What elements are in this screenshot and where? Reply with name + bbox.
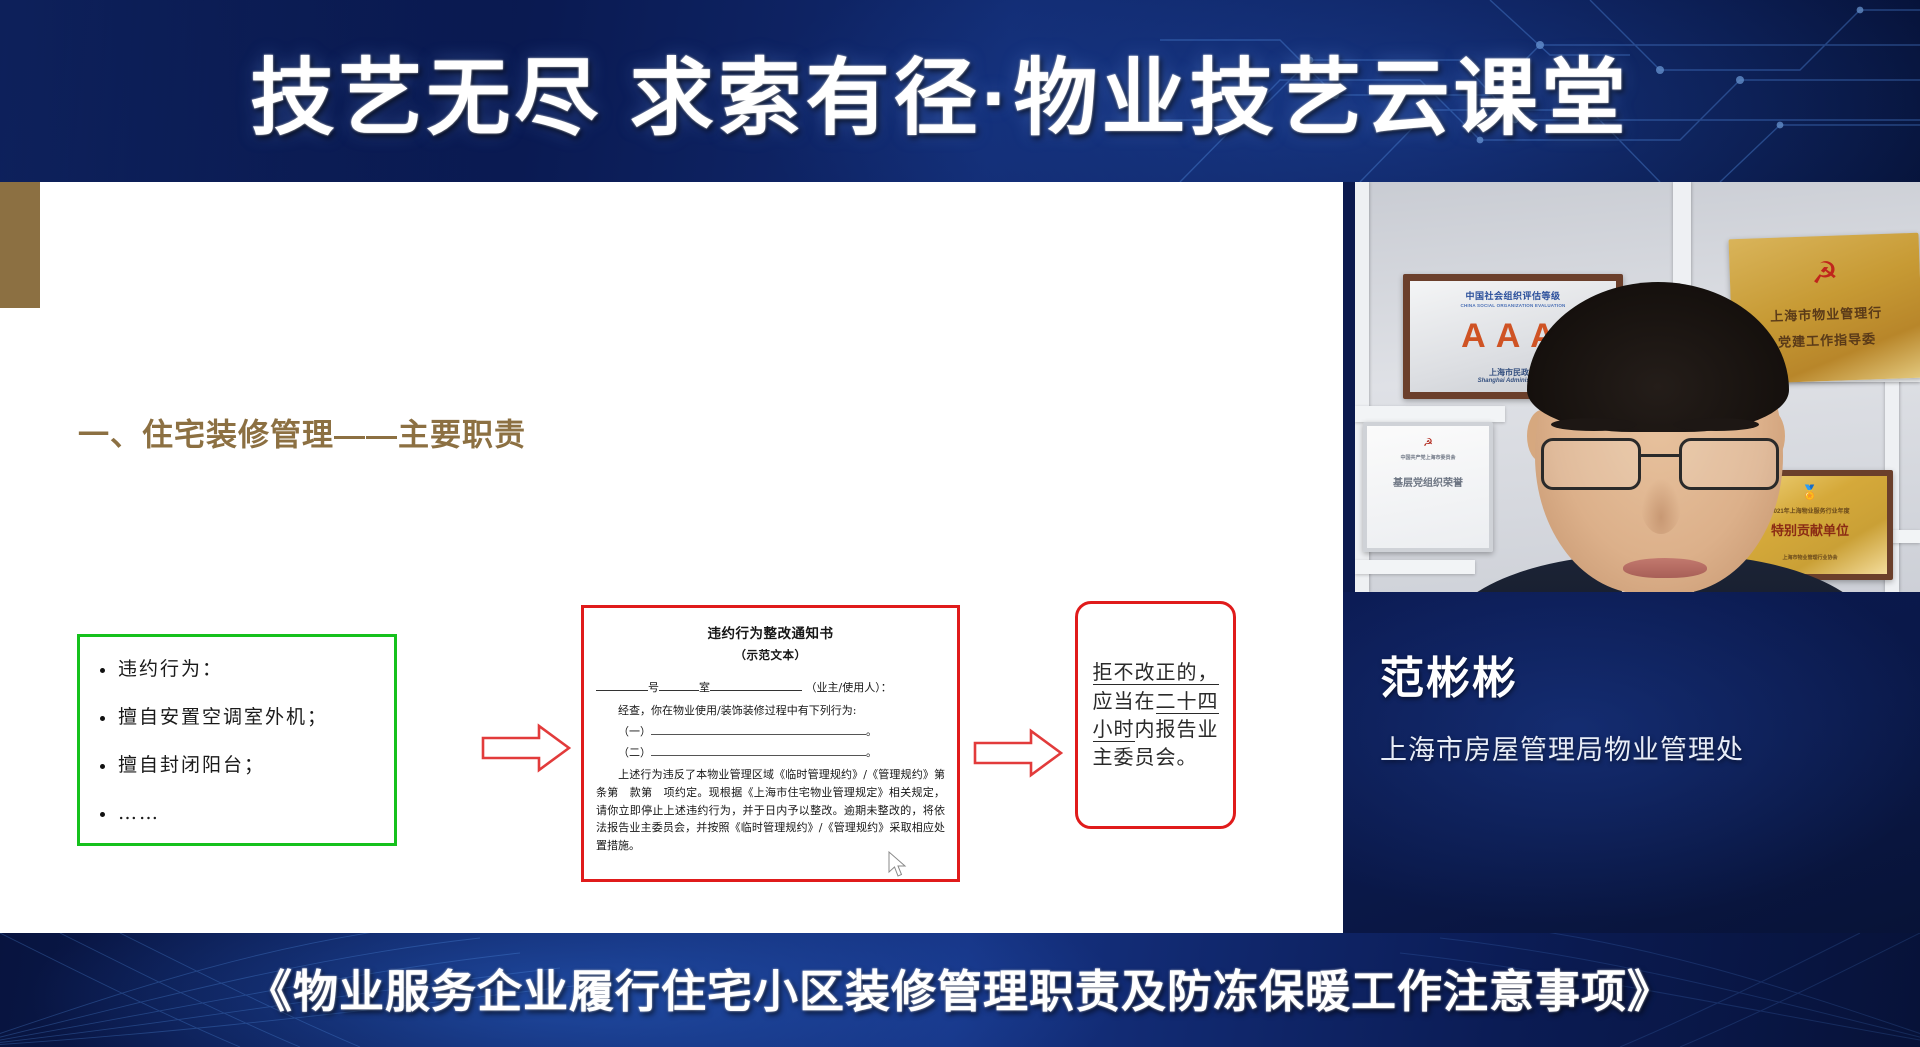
- notice-subtitle: （示范文本）: [596, 647, 945, 663]
- notice-address-suffix: （业主/使用人）：: [806, 681, 892, 694]
- notice-document-box: 违约行为整改通知书 （示范文本） 号室 （业主/使用人）： 经查，你在物业使用/…: [581, 605, 960, 882]
- flow-arrow-1: [481, 722, 571, 774]
- bullet-dot: [100, 812, 105, 817]
- list-item-label: ……: [118, 803, 160, 824]
- person-brow-right: [1673, 418, 1759, 431]
- shelf-board: [1355, 406, 1505, 422]
- list-item-label: 擅自封闭阳台；: [118, 755, 265, 776]
- webcam-left-border: [1343, 182, 1355, 592]
- notice-title: 违约行为整改通知书: [596, 622, 945, 642]
- header-title: 技艺无尽 求索有径·物业技艺云课堂: [0, 0, 1920, 182]
- footer-title: 《物业服务企业履行住宅小区装修管理职责及防冻保暖工作注意事项》: [0, 933, 1920, 1047]
- slide-heading: 一、住宅装修管理——主要职责: [78, 410, 526, 455]
- bullet-dot: [100, 764, 105, 769]
- footer-banner: 《物业服务企业履行住宅小区装修管理职责及防冻保暖工作注意事项》: [0, 933, 1920, 1047]
- list-item: ……: [94, 803, 378, 824]
- list-item-label: 违约行为：: [118, 659, 223, 680]
- conclusion-line-2: 应当在二十四: [1093, 687, 1219, 715]
- conclusion-text: 拒不改正的， 应当在二十四 小时内报告业 主委员会。: [1083, 658, 1229, 772]
- glasses-lens-right: [1679, 438, 1779, 490]
- notice-paragraph: 上述行为违反了本物业管理区域《临时管理规约》/《管理规约》第 条第 款第 项约定…: [596, 766, 945, 855]
- notice-item-2: （二）。: [596, 744, 945, 760]
- webcam-video[interactable]: 中国社会组织评估等级 CHINA SOCIAL ORGANIZATION EVA…: [1355, 182, 1920, 592]
- conclusion-line-1: 拒不改正的，: [1093, 658, 1219, 686]
- person-mouth: [1623, 558, 1707, 578]
- certificate-frame: ☭ 中国共产党上海市委员会 基层党组织荣誉: [1363, 422, 1493, 552]
- conclusion-box: 拒不改正的， 应当在二十四 小时内报告业 主委员会。: [1075, 601, 1236, 829]
- shelf-board: [1355, 560, 1475, 574]
- notice-intro: 经查，你在物业使用/装饰装修过程中有下列行为:: [596, 702, 945, 718]
- notice-item-1: （一）。: [596, 723, 945, 739]
- notice-address-line: 号室 （业主/使用人）：: [596, 679, 945, 695]
- list-item: 擅自封闭阳台；: [94, 755, 378, 776]
- glasses-lens-left: [1541, 438, 1641, 490]
- list-item: 违约行为：: [94, 659, 378, 680]
- slide-area: 一、住宅装修管理——主要职责 违约行为： 擅自安置空调室外机； 擅自封闭阳台；: [0, 182, 1343, 933]
- speaker-role: 上海市房屋管理局物业管理处: [1380, 728, 1744, 767]
- list-item: 擅自安置空调室外机；: [94, 707, 378, 728]
- webcam-scene: 中国社会组织评估等级 CHINA SOCIAL ORGANIZATION EVA…: [1355, 182, 1920, 592]
- bullet-dot: [100, 716, 105, 721]
- person-nose: [1641, 478, 1681, 534]
- screen-root: 技艺无尽 求索有径·物业技艺云课堂 一、住宅装修管理——主要职责 违约行为： 擅…: [0, 0, 1920, 1047]
- speaker-name: 范彬彬: [1380, 642, 1518, 706]
- speaker-info-panel: 范彬彬 上海市房屋管理局物业管理处: [1343, 592, 1920, 933]
- violations-list-box: 违约行为： 擅自安置空调室外机； 擅自封闭阳台； ……: [77, 634, 397, 846]
- conclusion-line-3: 小时内报告业: [1093, 715, 1219, 743]
- bullet-dot: [100, 668, 105, 673]
- slide-accent-bar: [0, 182, 40, 308]
- flow-arrow-2: [973, 727, 1063, 779]
- conclusion-line-4: 主委员会。: [1093, 743, 1219, 771]
- header-banner: 技艺无尽 求索有径·物业技艺云课堂: [0, 0, 1920, 182]
- glasses-bridge: [1641, 454, 1679, 457]
- violations-list: 违约行为： 擅自安置空调室外机； 擅自封闭阳台； ……: [94, 659, 378, 824]
- person-brow-left: [1551, 418, 1637, 431]
- list-item-label: 擅自安置空调室外机；: [118, 707, 328, 728]
